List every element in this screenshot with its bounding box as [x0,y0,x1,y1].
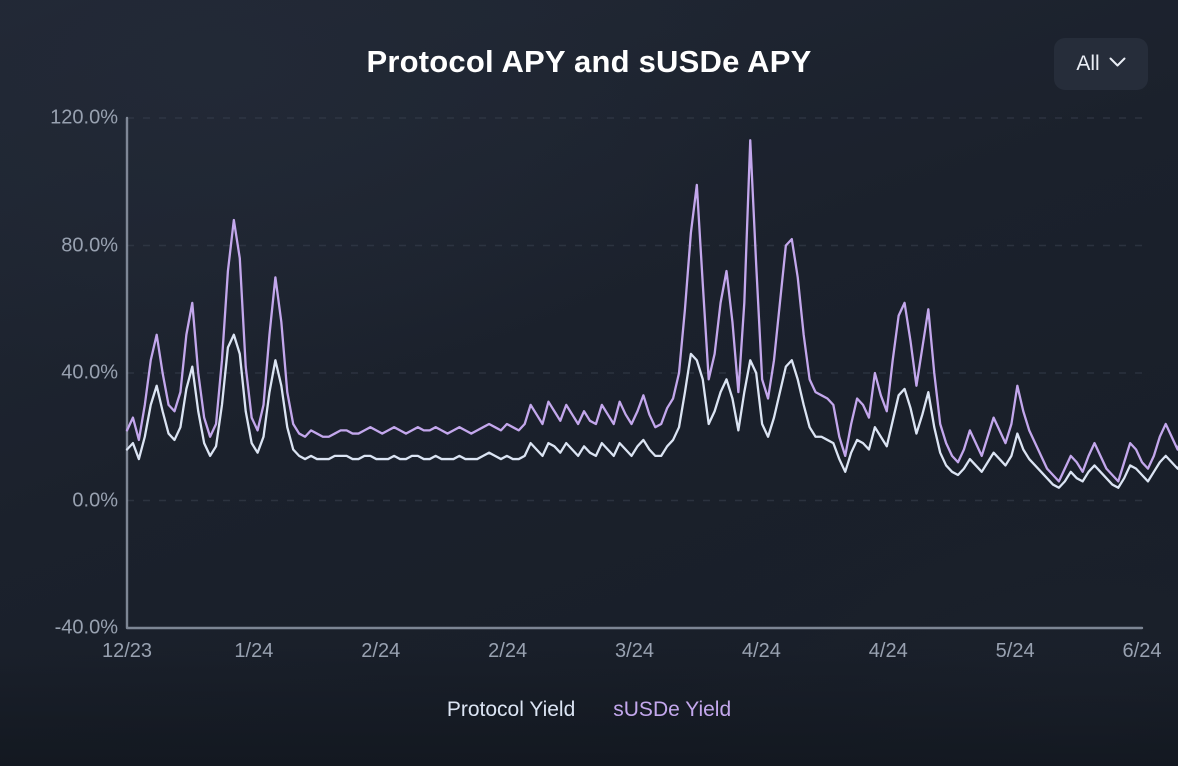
chart-panel: Protocol APY and sUSDe APY All 120.0%80.… [0,0,1178,766]
chart-legend: Protocol Yield sUSDe Yield [0,698,1178,722]
legend-item-susde-yield[interactable]: sUSDe Yield [613,698,731,722]
line-chart-plot [0,0,1178,766]
legend-item-protocol-yield[interactable]: Protocol Yield [447,698,575,722]
chart-series [127,140,1178,494]
